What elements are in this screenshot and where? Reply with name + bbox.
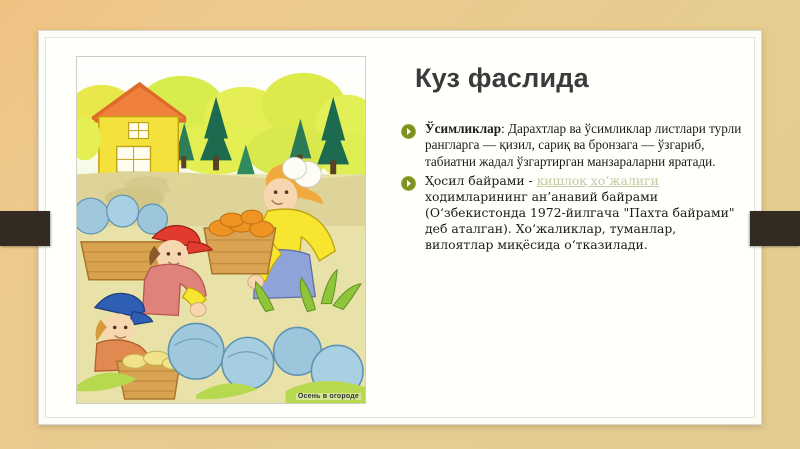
bullet-separator-1: : bbox=[501, 121, 508, 136]
bullet-text-1: Ўсимликлар: Дарахтлар ва ўсимликлар лист… bbox=[425, 121, 746, 171]
decorative-ribbon-left bbox=[0, 211, 50, 246]
slide-panel: Осень в огороде Куз фаслида Ўсимликлар: … bbox=[38, 30, 762, 425]
chevron-right-circle-icon bbox=[401, 124, 416, 139]
chevron-right-circle-icon bbox=[401, 176, 416, 191]
illustration-caption: Осень в огороде bbox=[296, 393, 361, 400]
content-column: Куз фаслида Ўсимликлар: Дарахтлар ва ўси… bbox=[401, 56, 746, 406]
bullet-list: Ўсимликлар: Дарахтлар ва ўсимликлар лист… bbox=[401, 121, 746, 254]
bullet-body-2-after: ходимларининг ан’анавий байрами (О‘збеки… bbox=[425, 189, 735, 252]
bullet-lead-1: Ўсимликлар bbox=[425, 121, 501, 136]
bullet-body-2-before: Ҳосил байрами - bbox=[425, 173, 537, 188]
agriculture-hyperlink[interactable]: қишлоқ хо‘жалиги bbox=[537, 173, 659, 188]
list-item: Ҳосил байрами - қишлоқ хо‘жалиги ходимла… bbox=[401, 173, 746, 254]
page-title: Куз фаслида bbox=[415, 64, 746, 94]
illustration-svg bbox=[77, 57, 365, 403]
decorative-ribbon-right bbox=[750, 211, 800, 246]
bullet-text-2: Ҳосил байрами - қишлоқ хо‘жалиги ходимла… bbox=[425, 173, 746, 254]
slide-inner-frame: Осень в огороде Куз фаслида Ўсимликлар: … bbox=[45, 37, 755, 418]
list-item: Ўсимликлар: Дарахтлар ва ўсимликлар лист… bbox=[401, 121, 746, 171]
autumn-garden-illustration: Осень в огороде bbox=[76, 56, 366, 404]
